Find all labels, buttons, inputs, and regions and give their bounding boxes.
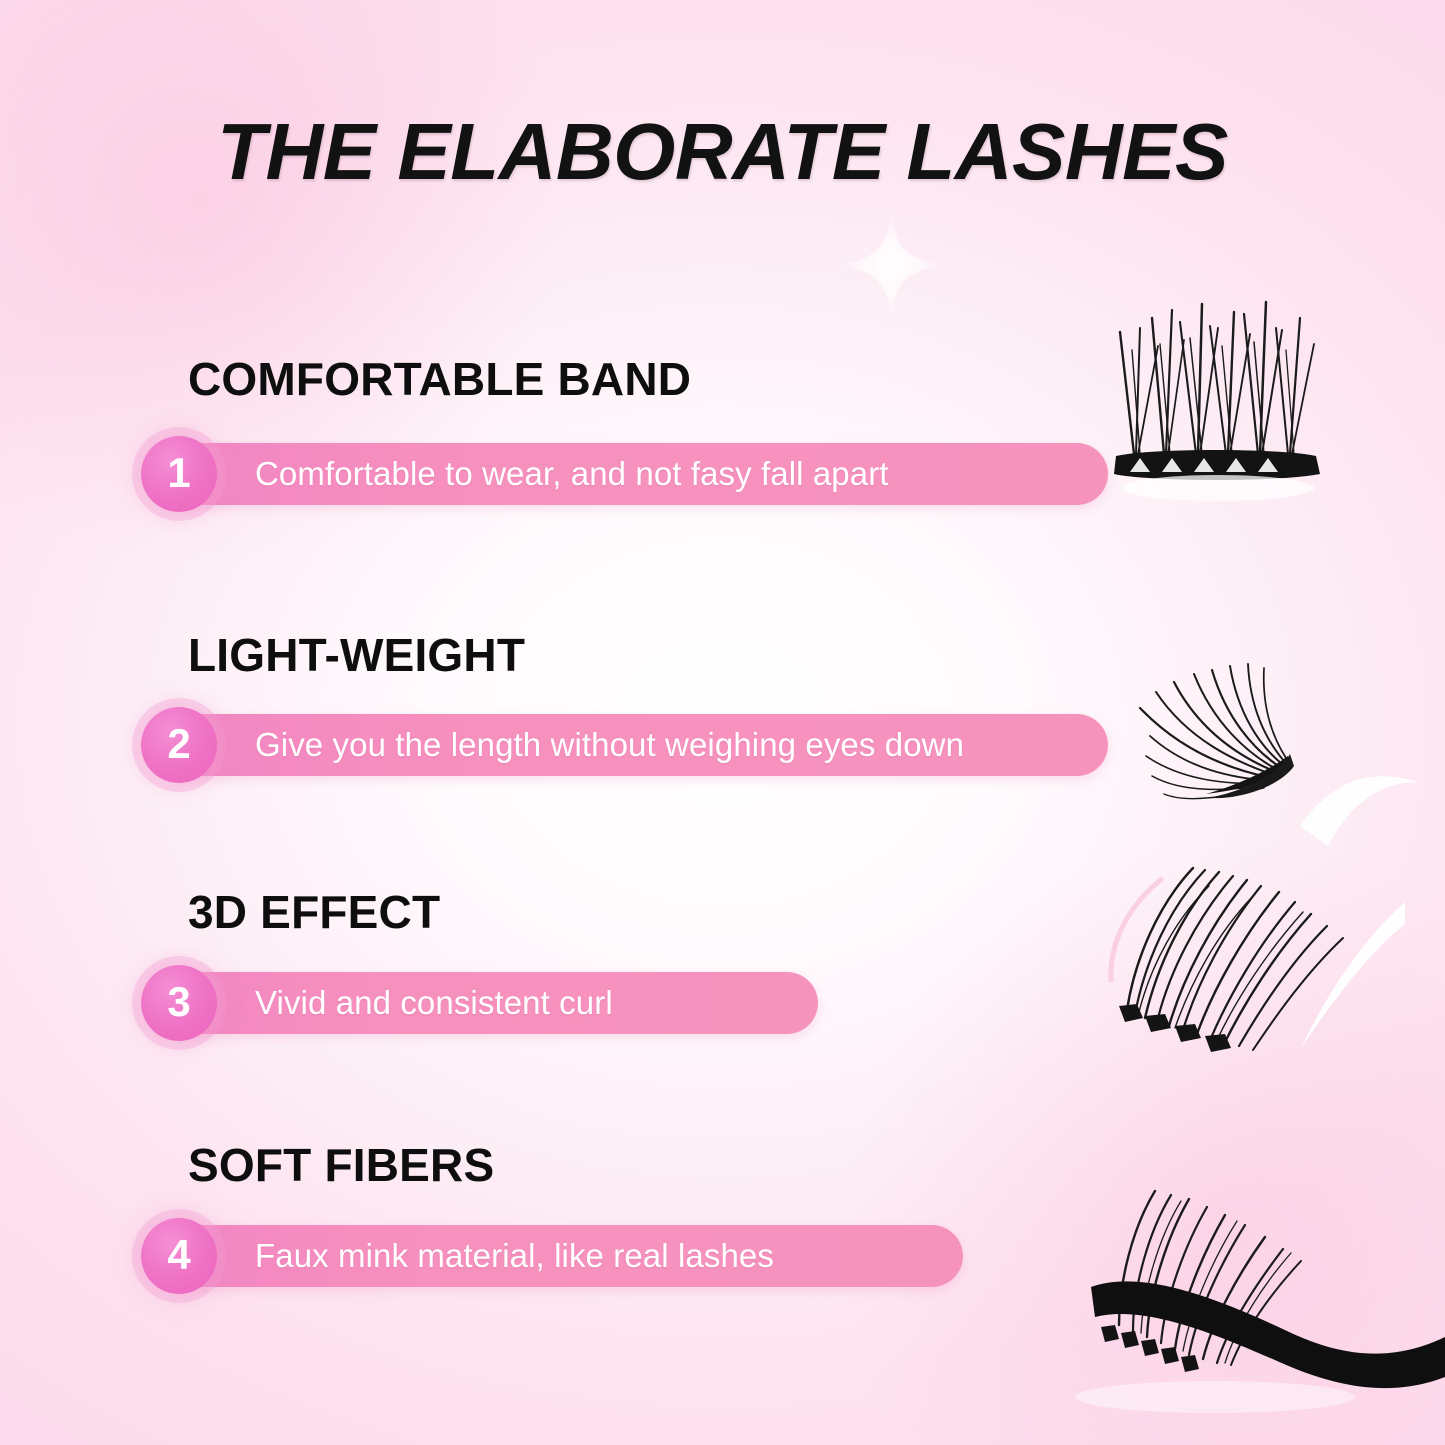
sparkle-star-icon bbox=[832, 206, 950, 324]
cluster-lash-photo bbox=[1110, 288, 1350, 518]
feature-number-2: 2 bbox=[167, 723, 190, 768]
feature-heading-3: 3D EFFECT bbox=[188, 885, 440, 939]
feature-description-2: Give you the length without weighing eye… bbox=[255, 726, 964, 764]
feature-badge-3: 3 bbox=[141, 965, 217, 1041]
feature-badge-4: 4 bbox=[141, 1218, 217, 1294]
page-title: THE ELABORATE LASHES bbox=[0, 112, 1445, 192]
feature-heading-2: LIGHT-WEIGHT bbox=[188, 628, 525, 682]
feature-badge-1: 1 bbox=[141, 436, 217, 512]
feature-pill-4[interactable]: 4 Faux mink material, like real lashes bbox=[163, 1225, 963, 1287]
feature-heading-1: COMFORTABLE BAND bbox=[188, 352, 691, 406]
swoosh-decoration-top bbox=[1300, 760, 1445, 850]
feature-pill-2[interactable]: 2 Give you the length without weighing e… bbox=[163, 714, 1108, 776]
feature-description-1: Comfortable to wear, and not fasy fall a… bbox=[255, 455, 889, 493]
feature-pill-1[interactable]: 1 Comfortable to wear, and not fasy fall… bbox=[163, 443, 1108, 505]
feature-heading-4: SOFT FIBERS bbox=[188, 1138, 494, 1192]
background-tint-bottom-right bbox=[825, 825, 1445, 1445]
feature-pill-3[interactable]: 3 Vivid and consistent curl bbox=[163, 972, 818, 1034]
feature-description-4: Faux mink material, like real lashes bbox=[255, 1237, 774, 1275]
poster-canvas: THE ELABORATE LASHES COMFORTABLE BAND 1 … bbox=[0, 0, 1445, 1445]
lash-with-tweezers-photo bbox=[1055, 1165, 1445, 1425]
strip-lash-photo bbox=[1122, 648, 1372, 818]
feature-number-1: 1 bbox=[167, 452, 190, 497]
feature-badge-2: 2 bbox=[141, 707, 217, 783]
feature-number-3: 3 bbox=[167, 981, 190, 1026]
feature-description-3: Vivid and consistent curl bbox=[255, 984, 613, 1022]
feature-number-4: 4 bbox=[167, 1234, 190, 1279]
curled-lash-photo bbox=[1105, 862, 1405, 1072]
